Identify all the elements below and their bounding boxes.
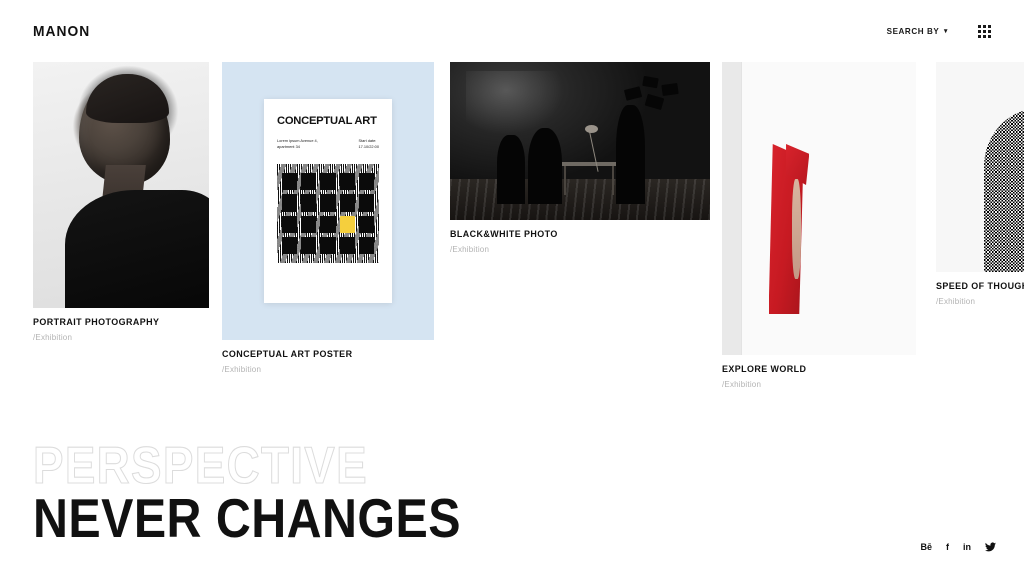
scene-figure-seated-left xyxy=(497,135,526,205)
hero-line-outline: PERSPECTIVE xyxy=(33,443,649,491)
thumbnail-explore-world[interactable] xyxy=(722,62,916,355)
gallery-item-speed-of-thought[interactable]: SPEED OF THOUGHT /Exhibition xyxy=(936,62,1024,306)
caption: PORTRAIT PHOTOGRAPHY /Exhibition xyxy=(33,317,209,342)
hero-line-solid: NEVER CHANGES xyxy=(33,492,649,544)
caption: EXPLORE WORLD /Exhibition xyxy=(722,364,916,389)
pattern-cell xyxy=(282,173,297,190)
pattern-cell xyxy=(359,173,374,190)
thumbnail-black-and-white-photo[interactable] xyxy=(450,62,710,220)
gallery-item-title: EXPLORE WORLD xyxy=(722,364,904,375)
portrait-hair xyxy=(86,74,169,123)
poster-address: Lorem ipsum Avenue 4, apartment 34 xyxy=(277,138,318,150)
hero-headline: PERSPECTIVE NEVER CHANGES xyxy=(33,443,733,544)
poster-pattern-grid xyxy=(277,164,379,263)
behance-icon[interactable]: Bē xyxy=(920,543,932,552)
gallery-item-title: SPEED OF THOUGHT xyxy=(936,281,1024,292)
pattern-cell xyxy=(282,194,297,211)
gallery-item-title: PORTRAIT PHOTOGRAPHY xyxy=(33,317,198,328)
portrait-photo-artwork xyxy=(33,62,209,308)
pattern-cell xyxy=(301,237,316,254)
pattern-cell xyxy=(340,194,355,211)
gallery-item-subtitle: /Exhibition xyxy=(722,380,916,389)
gallery-item-explore-world[interactable]: EXPLORE WORLD /Exhibition xyxy=(722,62,916,389)
scene-table-legs xyxy=(564,166,613,194)
pattern-cell xyxy=(359,237,374,254)
pattern-cell xyxy=(359,194,374,211)
pattern-cell xyxy=(340,173,355,190)
gallery-item-conceptual-art-poster[interactable]: CONCEPTUAL ART Lorem ipsum Avenue 4, apa… xyxy=(222,62,434,374)
poster-pattern-artwork xyxy=(277,164,379,263)
social-links: Bē f in xyxy=(920,542,996,552)
gallery-item-subtitle: /Exhibition xyxy=(936,297,1024,306)
thumbnail-portrait-photography[interactable] xyxy=(33,62,209,308)
gallery-item-black-and-white-photo[interactable]: BLACK&WHITE PHOTO /Exhibition xyxy=(450,62,710,254)
houndstooth-figure xyxy=(984,108,1024,272)
caption: CONCEPTUAL ART POSTER /Exhibition xyxy=(222,349,434,374)
pattern-cell xyxy=(301,173,316,190)
thumbnail-conceptual-art-poster[interactable]: CONCEPTUAL ART Lorem ipsum Avenue 4, apa… xyxy=(222,62,434,340)
pattern-cell xyxy=(320,237,335,254)
page-root: MANON SEARCH BY ▾ xyxy=(0,0,1024,580)
caption: BLACK&WHITE PHOTO /Exhibition xyxy=(450,229,710,254)
thumbnail-speed-of-thought[interactable] xyxy=(936,62,1024,272)
poster-artwork: CONCEPTUAL ART Lorem ipsum Avenue 4, apa… xyxy=(264,99,392,303)
speed-of-thought-artwork xyxy=(936,62,1024,272)
caption: SPEED OF THOUGHT /Exhibition xyxy=(936,281,1024,306)
pattern-cell xyxy=(301,216,316,233)
poster-meta: Lorem ipsum Avenue 4, apartment 34 Start… xyxy=(277,138,379,150)
wall-seam xyxy=(741,62,742,355)
gallery-item-portrait-photography[interactable]: PORTRAIT PHOTOGRAPHY /Exhibition xyxy=(33,62,209,342)
scene-light-glow xyxy=(466,71,565,134)
gallery-item-subtitle: /Exhibition xyxy=(450,245,710,254)
pattern-cell xyxy=(282,216,297,233)
scene-figure-seated-right xyxy=(528,128,562,204)
model-arm xyxy=(792,179,801,279)
wall-frame xyxy=(645,94,665,110)
pattern-cell xyxy=(320,216,335,233)
linkedin-icon[interactable]: in xyxy=(963,543,971,552)
explore-world-artwork xyxy=(722,62,916,355)
twitter-icon[interactable] xyxy=(985,542,996,552)
pattern-cell xyxy=(301,194,316,211)
gallery-item-subtitle: /Exhibition xyxy=(33,333,209,342)
pattern-cell xyxy=(359,216,374,233)
portrait-shirt xyxy=(65,190,209,308)
poster-title: CONCEPTUAL ART xyxy=(277,115,379,127)
pattern-cell xyxy=(320,173,335,190)
pattern-cell xyxy=(320,194,335,211)
poster-start-date: Start date: 17.10/22:00 xyxy=(358,138,379,150)
wall-frame xyxy=(643,76,659,88)
pattern-cell-accent xyxy=(340,216,355,233)
gallery-item-title: CONCEPTUAL ART POSTER xyxy=(222,349,421,360)
gallery-grid: PORTRAIT PHOTOGRAPHY /Exhibition CONCEPT… xyxy=(0,0,1024,420)
gallery-item-title: BLACK&WHITE PHOTO xyxy=(450,229,694,240)
facebook-icon[interactable]: f xyxy=(946,543,949,552)
pattern-cell xyxy=(340,237,355,254)
wall-frame xyxy=(662,83,679,96)
pattern-cell xyxy=(282,237,297,254)
gallery-item-subtitle: /Exhibition xyxy=(222,365,434,374)
black-and-white-photo-artwork xyxy=(450,62,710,220)
wall-frame xyxy=(623,86,641,100)
